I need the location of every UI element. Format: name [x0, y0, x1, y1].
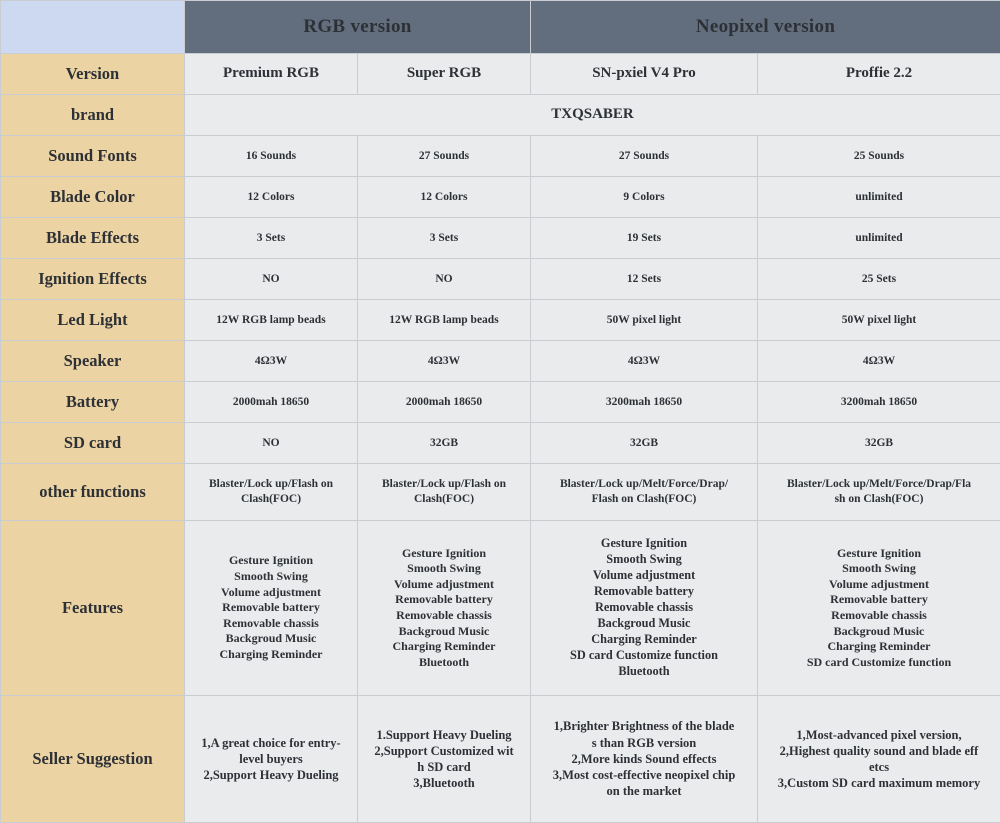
cell-sd-card-super-rgb: 32GB — [358, 423, 531, 464]
cell-blade-effects-proffie-2-2: unlimited — [758, 218, 1000, 259]
row-label-version: Version — [1, 54, 185, 95]
cell-line: 1.Support Heavy Dueling — [362, 727, 526, 743]
table-row: Seller Suggestion1,A great choice for en… — [1, 696, 1000, 823]
cell-line: 2,Highest quality sound and blade eff — [762, 743, 996, 759]
cell-features-sn-pxiel-v4-pro: Gesture IgnitionSmooth SwingVolume adjus… — [531, 521, 758, 696]
cell-version-super-rgb: Super RGB — [358, 54, 531, 95]
cell-line: Smooth Swing — [189, 569, 353, 585]
cell-line: Gesture Ignition — [762, 546, 996, 562]
cell-other-functions-sn-pxiel-v4-pro: Blaster/Lock up/Melt/Force/Drap/Flash on… — [531, 464, 758, 521]
cell-brand-merged: TXQSABER — [185, 95, 1000, 136]
cell-led-light-super-rgb: 12W RGB lamp beads — [358, 300, 531, 341]
cell-blade-color-sn-pxiel-v4-pro: 9 Colors — [531, 177, 758, 218]
group-header-neopixel: Neopixel version — [531, 1, 1000, 54]
row-label-features: Features — [1, 521, 185, 696]
table-row: brandTXQSABER — [1, 95, 1000, 136]
cell-line: h SD card — [362, 759, 526, 775]
cell-blade-color-proffie-2-2: unlimited — [758, 177, 1000, 218]
cell-line: Removable battery — [535, 584, 753, 600]
table-row: Speaker4Ω3W4Ω3W4Ω3W4Ω3W — [1, 341, 1000, 382]
cell-blade-effects-premium-rgb: 3 Sets — [185, 218, 358, 259]
cell-line: Backgroud Music — [189, 631, 353, 647]
cell-line: sh on Clash(FOC) — [762, 492, 996, 507]
cell-line: Blaster/Lock up/Flash on — [362, 477, 526, 492]
cell-sound-fonts-proffie-2-2: 25 Sounds — [758, 136, 1000, 177]
cell-battery-super-rgb: 2000mah 18650 — [358, 382, 531, 423]
cell-seller-suggestion-super-rgb: 1.Support Heavy Dueling2,Support Customi… — [358, 696, 531, 823]
cell-line: 2,Support Customized wit — [362, 743, 526, 759]
cell-line: Charging Reminder — [762, 639, 996, 655]
cell-version-premium-rgb: Premium RGB — [185, 54, 358, 95]
cell-line: Volume adjustment — [189, 585, 353, 601]
cell-line: Blaster/Lock up/Melt/Force/Drap/ — [535, 477, 753, 492]
cell-speaker-proffie-2-2: 4Ω3W — [758, 341, 1000, 382]
cell-line: SD card Customize function — [535, 648, 753, 664]
cell-line: Bluetooth — [362, 655, 526, 671]
row-label-other-functions: other functions — [1, 464, 185, 521]
table-row: Led Light12W RGB lamp beads12W RGB lamp … — [1, 300, 1000, 341]
table-row: Sound Fonts16 Sounds27 Sounds27 Sounds25… — [1, 136, 1000, 177]
cell-line: 3,Most cost-effective neopixel chip — [535, 767, 753, 783]
cell-line: Backgroud Music — [762, 624, 996, 640]
cell-led-light-sn-pxiel-v4-pro: 50W pixel light — [531, 300, 758, 341]
cell-line: 1,A great choice for entry- — [189, 735, 353, 751]
cell-ignition-effects-sn-pxiel-v4-pro: 12 Sets — [531, 259, 758, 300]
cell-ignition-effects-premium-rgb: NO — [185, 259, 358, 300]
cell-battery-proffie-2-2: 3200mah 18650 — [758, 382, 1000, 423]
row-label-sound-fonts: Sound Fonts — [1, 136, 185, 177]
cell-sound-fonts-super-rgb: 27 Sounds — [358, 136, 531, 177]
cell-speaker-premium-rgb: 4Ω3W — [185, 341, 358, 382]
row-label-battery: Battery — [1, 382, 185, 423]
cell-line: Smooth Swing — [762, 561, 996, 577]
row-label-ignition-effects: Ignition Effects — [1, 259, 185, 300]
cell-ignition-effects-super-rgb: NO — [358, 259, 531, 300]
cell-line: Removable battery — [362, 592, 526, 608]
cell-line: Bluetooth — [535, 664, 753, 680]
cell-line: Charging Reminder — [535, 632, 753, 648]
row-label-brand: brand — [1, 95, 185, 136]
cell-seller-suggestion-sn-pxiel-v4-pro: 1,Brighter Brightness of the blades than… — [531, 696, 758, 823]
cell-sound-fonts-sn-pxiel-v4-pro: 27 Sounds — [531, 136, 758, 177]
table-row: VersionPremium RGBSuper RGBSN-pxiel V4 P… — [1, 54, 1000, 95]
table-row: Ignition EffectsNONO12 Sets25 Sets — [1, 259, 1000, 300]
cell-line: 2,More kinds Sound effects — [535, 751, 753, 767]
cell-line: Clash(FOC) — [189, 492, 353, 507]
cell-features-premium-rgb: Gesture IgnitionSmooth SwingVolume adjus… — [185, 521, 358, 696]
cell-battery-premium-rgb: 2000mah 18650 — [185, 382, 358, 423]
cell-line: Smooth Swing — [535, 552, 753, 568]
cell-line: Flash on Clash(FOC) — [535, 492, 753, 507]
table-row: SD cardNO32GB32GB32GB — [1, 423, 1000, 464]
cell-line: Gesture Ignition — [189, 553, 353, 569]
cell-other-functions-super-rgb: Blaster/Lock up/Flash onClash(FOC) — [358, 464, 531, 521]
row-label-seller-suggestion: Seller Suggestion — [1, 696, 185, 823]
table-row: FeaturesGesture IgnitionSmooth SwingVolu… — [1, 521, 1000, 696]
cell-line: Removable battery — [762, 592, 996, 608]
cell-sd-card-proffie-2-2: 32GB — [758, 423, 1000, 464]
cell-battery-sn-pxiel-v4-pro: 3200mah 18650 — [531, 382, 758, 423]
group-header-row: RGB version Neopixel version — [1, 1, 1000, 54]
cell-line: Backgroud Music — [362, 624, 526, 640]
cell-line: on the market — [535, 783, 753, 799]
cell-other-functions-proffie-2-2: Blaster/Lock up/Melt/Force/Drap/Flash on… — [758, 464, 1000, 521]
cell-line: Removable chassis — [362, 608, 526, 624]
cell-line: Clash(FOC) — [362, 492, 526, 507]
cell-ignition-effects-proffie-2-2: 25 Sets — [758, 259, 1000, 300]
table-body: VersionPremium RGBSuper RGBSN-pxiel V4 P… — [1, 54, 1000, 823]
cell-led-light-premium-rgb: 12W RGB lamp beads — [185, 300, 358, 341]
table-header: RGB version Neopixel version — [1, 1, 1000, 54]
cell-line: Gesture Ignition — [362, 546, 526, 562]
table-row: other functionsBlaster/Lock up/Flash onC… — [1, 464, 1000, 521]
cell-line: Blaster/Lock up/Melt/Force/Drap/Fla — [762, 477, 996, 492]
table-row: Blade Color12 Colors12 Colors9 Colorsunl… — [1, 177, 1000, 218]
cell-line: 2,Support Heavy Dueling — [189, 767, 353, 783]
cell-line: Removable chassis — [189, 616, 353, 632]
cell-seller-suggestion-proffie-2-2: 1,Most-advanced pixel version,2,Highest … — [758, 696, 1000, 823]
cell-speaker-sn-pxiel-v4-pro: 4Ω3W — [531, 341, 758, 382]
cell-features-super-rgb: Gesture IgnitionSmooth SwingVolume adjus… — [358, 521, 531, 696]
cell-sd-card-sn-pxiel-v4-pro: 32GB — [531, 423, 758, 464]
cell-line: 3,Custom SD card maximum memory — [762, 775, 996, 791]
cell-line: Volume adjustment — [762, 577, 996, 593]
cell-line: Gesture Ignition — [535, 536, 753, 552]
cell-line: Backgroud Music — [535, 616, 753, 632]
cell-line: 1,Most-advanced pixel version, — [762, 727, 996, 743]
cell-led-light-proffie-2-2: 50W pixel light — [758, 300, 1000, 341]
cell-line: Volume adjustment — [535, 568, 753, 584]
cell-line: Removable chassis — [535, 600, 753, 616]
cell-line: 1,Brighter Brightness of the blade — [535, 718, 753, 734]
cell-version-proffie-2-2: Proffie 2.2 — [758, 54, 1000, 95]
cell-line: etcs — [762, 759, 996, 775]
group-header-rgb: RGB version — [185, 1, 531, 54]
row-label-blade-effects: Blade Effects — [1, 218, 185, 259]
table-row: Blade Effects3 Sets3 Sets19 Setsunlimite… — [1, 218, 1000, 259]
cell-line: level buyers — [189, 751, 353, 767]
cell-blade-color-super-rgb: 12 Colors — [358, 177, 531, 218]
cell-blade-color-premium-rgb: 12 Colors — [185, 177, 358, 218]
cell-line: Smooth Swing — [362, 561, 526, 577]
cell-line: Removable battery — [189, 600, 353, 616]
cell-line: s than RGB version — [535, 735, 753, 751]
cell-line: Volume adjustment — [362, 577, 526, 593]
cell-speaker-super-rgb: 4Ω3W — [358, 341, 531, 382]
row-label-sd-card: SD card — [1, 423, 185, 464]
cell-line: 3,Bluetooth — [362, 775, 526, 791]
cell-sound-fonts-premium-rgb: 16 Sounds — [185, 136, 358, 177]
cell-other-functions-premium-rgb: Blaster/Lock up/Flash onClash(FOC) — [185, 464, 358, 521]
row-label-blade-color: Blade Color — [1, 177, 185, 218]
cell-line: Charging Reminder — [189, 647, 353, 663]
row-label-led-light: Led Light — [1, 300, 185, 341]
cell-line: Removable chassis — [762, 608, 996, 624]
cell-features-proffie-2-2: Gesture IgnitionSmooth SwingVolume adjus… — [758, 521, 1000, 696]
cell-line: SD card Customize function — [762, 655, 996, 671]
table-corner-cell — [1, 1, 185, 54]
cell-seller-suggestion-premium-rgb: 1,A great choice for entry-level buyers2… — [185, 696, 358, 823]
cell-blade-effects-sn-pxiel-v4-pro: 19 Sets — [531, 218, 758, 259]
row-label-speaker: Speaker — [1, 341, 185, 382]
cell-version-sn-pxiel-v4-pro: SN-pxiel V4 Pro — [531, 54, 758, 95]
cell-line: Blaster/Lock up/Flash on — [189, 477, 353, 492]
product-comparison-table: RGB version Neopixel version VersionPrem… — [0, 0, 1000, 823]
cell-sd-card-premium-rgb: NO — [185, 423, 358, 464]
cell-blade-effects-super-rgb: 3 Sets — [358, 218, 531, 259]
cell-line: Charging Reminder — [362, 639, 526, 655]
table-row: Battery2000mah 186502000mah 186503200mah… — [1, 382, 1000, 423]
